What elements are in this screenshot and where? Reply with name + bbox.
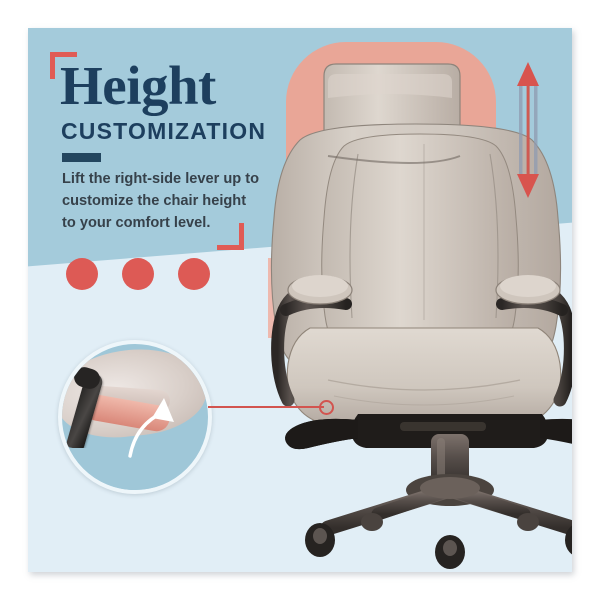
up-arrow-icon (124, 388, 190, 460)
page-title: Height (60, 58, 216, 113)
body-copy: Lift the right-side lever up to customiz… (62, 168, 262, 235)
dot-1 (66, 258, 98, 290)
lever-closeup-inset (58, 340, 212, 494)
callout-target-marker (319, 400, 334, 415)
height-adjust-arrow-icon (506, 60, 550, 200)
decorative-dots (66, 258, 210, 290)
callout-connector-line (208, 406, 324, 408)
dot-3 (178, 258, 210, 290)
page-subtitle: CUSTOMIZATION (61, 118, 266, 145)
dot-2 (122, 258, 154, 290)
title-divider (62, 153, 101, 162)
infographic-canvas: Height CUSTOMIZATION Lift the right-side… (0, 0, 600, 600)
content-panel: Height CUSTOMIZATION Lift the right-side… (28, 28, 572, 572)
